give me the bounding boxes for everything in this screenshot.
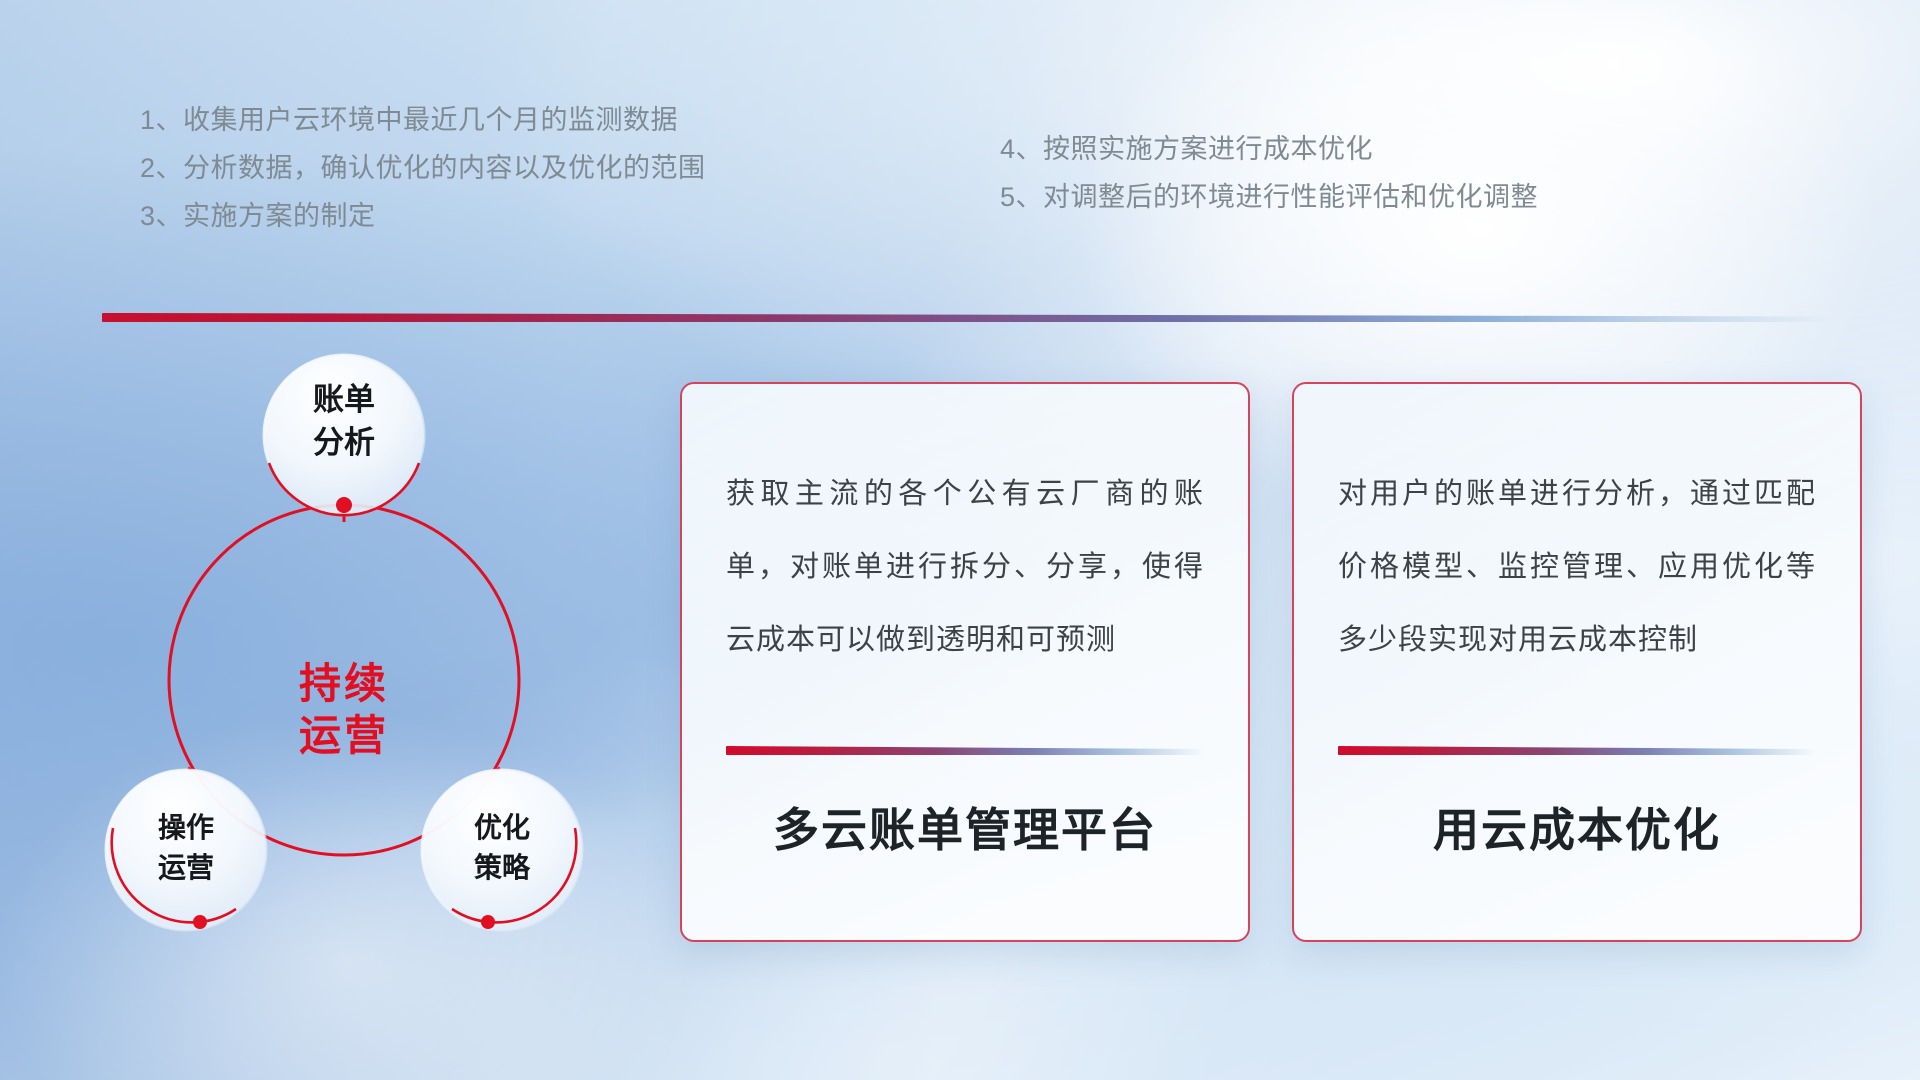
venn-center-label-line2: 运营 — [299, 712, 389, 759]
steps-list-left: 1、收集用户云环境中最近几个月的监测数据 2、分析数据，确认优化的内容以及优化的… — [140, 96, 706, 240]
venn-node-ops-operation[interactable]: 操作 运营 — [106, 770, 266, 930]
venn-node-label-line1: 优化 — [474, 812, 530, 843]
list-item: 2、分析数据，确认优化的内容以及优化的范围 — [140, 144, 706, 192]
card-body-text: 对用户的账单进行分析，通过匹配价格模型、监控管理、应用优化等多少段实现对用云成本… — [1294, 384, 1860, 677]
list-item: 1、收集用户云环境中最近几个月的监测数据 — [140, 96, 706, 144]
card-multi-cloud-bill-platform[interactable]: 获取主流的各个公有云厂商的账单，对账单进行拆分、分享，使得云成本可以做到透明和可… — [680, 382, 1250, 942]
venn-node-label-line2: 策略 — [474, 851, 531, 883]
card-divider-rule — [726, 746, 1204, 755]
steps-list-right: 4、按照实施方案进行成本优化 5、对调整后的环境进行性能评估和优化调整 — [1000, 125, 1538, 221]
list-item: 3、实施方案的制定 — [140, 192, 706, 240]
venn-node-label-line1: 操作 — [158, 812, 214, 843]
venn-center-label-line1: 持续 — [299, 660, 389, 707]
list-item: 4、按照实施方案进行成本优化 — [1000, 125, 1538, 173]
card-title: 多云账单管理平台 — [682, 794, 1248, 860]
card-divider-rule — [1338, 746, 1816, 755]
venn-node-label-line1: 账单 — [313, 382, 375, 417]
venn-diagram: 账单 分析 操作 运营 优化 策略 持续 运营 — [96, 350, 636, 950]
venn-node-label-line2: 运营 — [158, 852, 214, 883]
card-cloud-cost-optimization[interactable]: 对用户的账单进行分析，通过匹配价格模型、监控管理、应用优化等多少段实现对用云成本… — [1292, 382, 1862, 942]
connector-dot-right — [481, 915, 495, 929]
connector-dot-left — [193, 915, 207, 929]
list-item: 5、对调整后的环境进行性能评估和优化调整 — [1000, 173, 1538, 221]
card-title: 用云成本优化 — [1294, 794, 1860, 860]
venn-node-optimize-policy[interactable]: 优化 策略 — [422, 770, 582, 930]
card-body-text: 获取主流的各个公有云厂商的账单，对账单进行拆分、分享，使得云成本可以做到透明和可… — [682, 384, 1248, 677]
venn-node-label-line2: 分析 — [313, 425, 375, 460]
connector-dot-top — [336, 497, 352, 513]
